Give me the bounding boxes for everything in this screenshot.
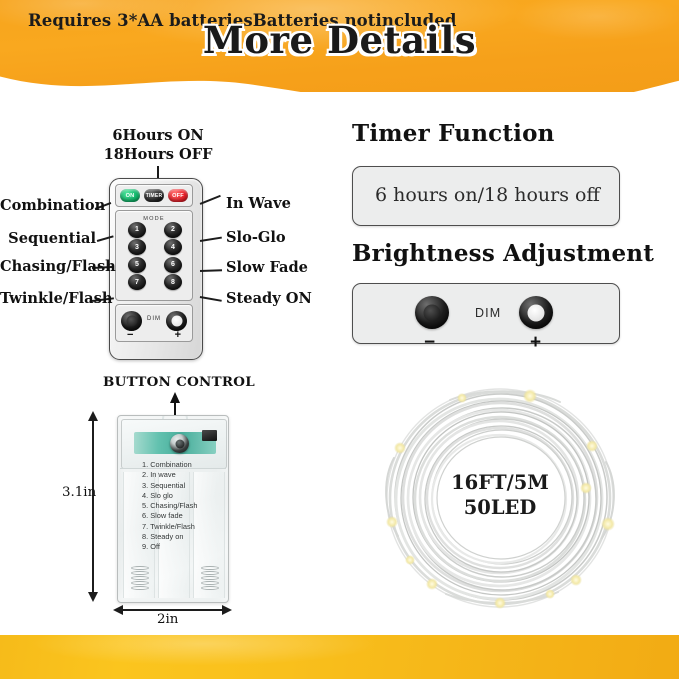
mode-button-grid: 1 2 3 4 5 6 7 8	[119, 221, 191, 291]
height-dimension-line	[92, 417, 94, 599]
page-title: More Details	[0, 18, 679, 62]
battery-mode-item: 1. Combination	[142, 460, 226, 470]
leader-line-sloglo	[200, 237, 222, 242]
battery-mode-item: 7. Twinkle/Flash	[142, 522, 226, 532]
battery-mode-item: 4. Slo glo	[142, 491, 226, 501]
battery-spring-icon	[131, 566, 147, 592]
timer-value-text: 6 hours on/18 hours off	[375, 184, 600, 206]
product-detail-image: More Details 6Hours ON 18Hours OFF ON TI…	[0, 0, 679, 679]
dim-down-wheel[interactable]	[121, 311, 142, 331]
button-control-label: BUTTON CONTROL	[103, 374, 255, 390]
timer-function-title: Timer Function	[352, 120, 555, 147]
height-dimension-label: 3.1in	[62, 485, 96, 500]
leader-line-slowfade	[200, 269, 222, 271]
width-arrow-right-icon	[222, 603, 232, 617]
mode-button-pad: MODE 1 2 3 4 5 6 7 8	[115, 210, 193, 301]
dim-up-wheel[interactable]	[166, 311, 187, 331]
label-in-wave: In Wave	[226, 195, 291, 212]
label-combination: Combination	[0, 197, 96, 214]
led-wire-coil: 16FT/5M 50LED	[380, 384, 620, 612]
dim-pad: DIM −	[115, 304, 193, 342]
leader-line-steadyon	[200, 296, 222, 301]
brightness-box: DIM − +	[352, 283, 620, 344]
label-slo-glo: Slo-Glo	[226, 229, 286, 246]
remote-control[interactable]: ON TIMER OFF MODE 1 2 3 4 5 6 7 8 DIM	[109, 178, 203, 360]
battery-mode-list: 1. Combination 2. In wave 3. Sequential …	[142, 460, 226, 553]
mode-button-1[interactable]: 1	[128, 222, 146, 238]
wheel-hub	[528, 304, 545, 321]
mode-button-6[interactable]: 6	[164, 257, 182, 273]
mode-button-5[interactable]: 5	[128, 257, 146, 273]
mode-button-8[interactable]: 8	[164, 274, 182, 290]
width-arrow-left-icon	[113, 603, 123, 617]
timer-button[interactable]: TIMER	[144, 189, 164, 202]
footer-sheen	[0, 635, 679, 679]
label-steady-on: Steady ON	[226, 290, 312, 307]
plus-sign: +	[175, 329, 181, 341]
brightness-plus-sign: +	[530, 332, 541, 354]
coil-length-label: 16FT/5M	[380, 470, 620, 495]
minus-sign: −	[127, 329, 133, 341]
brightness-minus-sign: −	[424, 332, 435, 354]
control-button[interactable]	[170, 434, 189, 453]
battery-spring-icon	[201, 566, 217, 592]
label-chasing-flash: Chasing/Flash	[0, 258, 94, 275]
remote-face: ON TIMER OFF MODE 1 2 3 4 5 6 7 8 DIM	[115, 184, 193, 342]
coil-led-count-label: 50LED	[380, 495, 620, 520]
control-button-dot	[175, 439, 184, 448]
timer-callout: 6Hours ON 18Hours OFF	[98, 126, 218, 164]
on-button[interactable]: ON	[120, 189, 140, 202]
wheel-hub	[171, 316, 182, 327]
battery-mode-item: 5. Chasing/Flash	[142, 501, 226, 511]
label-twinkle-flash: Twinkle/Flash	[0, 290, 94, 307]
wheel-hub	[126, 316, 137, 327]
battery-mode-item: 8. Steady on	[142, 532, 226, 542]
bottom-banner	[0, 635, 679, 679]
chip-icon	[202, 430, 217, 441]
mode-button-7[interactable]: 7	[128, 274, 146, 290]
battery-mode-item: 6. Slow fade	[142, 511, 226, 521]
timer-value-box: 6 hours on/18 hours off	[352, 166, 620, 226]
battery-mode-item: 3. Sequential	[142, 481, 226, 491]
mode-button-3[interactable]: 3	[128, 239, 146, 255]
mode-button-2[interactable]: 2	[164, 222, 182, 238]
brightness-down-wheel[interactable]	[415, 296, 449, 329]
brightness-dim-label: DIM	[475, 306, 501, 320]
banner-wave-edge	[0, 70, 679, 92]
battery-mode-item: 2. In wave	[142, 470, 226, 480]
battery-box: 1. Combination 2. In wave 3. Sequential …	[117, 415, 229, 603]
height-arrow-bottom-icon	[86, 592, 100, 602]
brightness-title: Brightness Adjustment	[352, 240, 654, 267]
width-dimension-line	[120, 609, 224, 611]
power-button-pad: ON TIMER OFF	[115, 184, 193, 207]
battery-mode-item: 9. Off	[142, 542, 226, 552]
brightness-up-wheel[interactable]	[519, 296, 553, 329]
timer-callout-line2: 18Hours OFF	[98, 145, 218, 164]
timer-callout-line1: 6Hours ON	[98, 126, 218, 145]
mode-button-4[interactable]: 4	[164, 239, 182, 255]
height-arrow-top-icon	[86, 411, 100, 421]
off-button[interactable]: OFF	[168, 189, 188, 202]
wheel-hub	[424, 304, 441, 321]
label-sequential: Sequential	[0, 230, 96, 247]
label-slow-fade: Slow Fade	[226, 259, 308, 276]
width-dimension-label: 2in	[157, 612, 178, 627]
coil-spec-text: 16FT/5M 50LED	[380, 470, 620, 520]
